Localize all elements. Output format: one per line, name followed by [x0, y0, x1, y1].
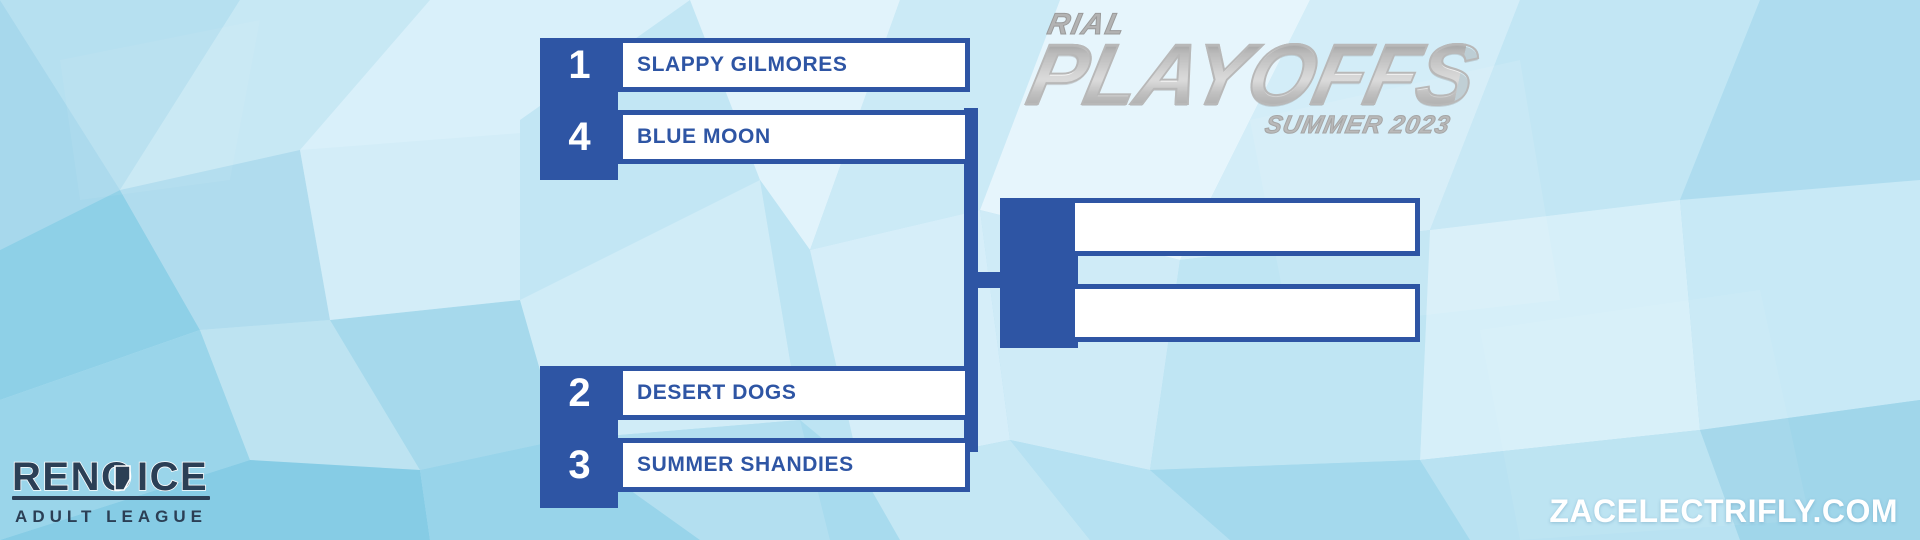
team-name: [1075, 203, 1089, 226]
seed-number: 3: [540, 438, 618, 492]
team-box[interactable]: SLAPPY GILMORES: [618, 38, 970, 92]
matchup-semifinal-top: 1 SLAPPY GILMORES 4 BLUE MOON: [540, 38, 970, 180]
logo-wordmark: RENO ICE ADULT LEAGUE: [12, 455, 210, 526]
championship-seed-panel: [1000, 198, 1078, 348]
team-name: BLUE MOON: [623, 125, 771, 149]
season-subtitle: SUMMER 2023: [1027, 111, 1463, 140]
logo-divider: [12, 496, 210, 500]
team-box[interactable]: SUMMER SHANDIES: [618, 438, 970, 492]
team-box[interactable]: DESERT DOGS: [618, 366, 970, 420]
seed-number: 1: [540, 38, 618, 92]
playoffs-title-lockup: RIAL PLAYOFFS SUMMER 2023: [1030, 8, 1460, 158]
bracket-row[interactable]: 3 SUMMER SHANDIES: [540, 438, 970, 492]
playoff-bracket: 1 SLAPPY GILMORES 4 BLUE MOON 2 DESERT D…: [0, 0, 1920, 540]
team-box[interactable]: BLUE MOON: [618, 110, 970, 164]
matchup-semifinal-bottom: 2 DESERT DOGS 3 SUMMER SHANDIES: [540, 366, 970, 508]
site-watermark: ZACELECTRIFLY.COM: [1549, 493, 1898, 530]
seed-number: 4: [540, 110, 618, 164]
playoffs-headline: PLAYOFFS: [1022, 36, 1469, 115]
team-name: DESERT DOGS: [623, 381, 796, 405]
connector-to-championship: [964, 272, 1004, 288]
reno-ice-logo: RENO ICE ADULT LEAGUE: [6, 444, 216, 532]
bracket-row[interactable]: 4 BLUE MOON: [540, 110, 970, 164]
bracket-row[interactable]: 1 SLAPPY GILMORES: [540, 38, 970, 92]
team-name: SLAPPY GILMORES: [623, 53, 847, 77]
team-name: SUMMER SHANDIES: [623, 453, 854, 477]
team-name: [1075, 289, 1089, 312]
seed-number: 2: [540, 366, 618, 420]
championship-slot-bottom[interactable]: [1070, 284, 1420, 342]
logo-subtitle: ADULT LEAGUE: [15, 507, 207, 526]
logo-text-ice: ICE: [137, 455, 208, 499]
bracket-row[interactable]: 2 DESERT DOGS: [540, 366, 970, 420]
championship-slot-top[interactable]: [1070, 198, 1420, 256]
matchup-championship: [1000, 198, 1420, 348]
